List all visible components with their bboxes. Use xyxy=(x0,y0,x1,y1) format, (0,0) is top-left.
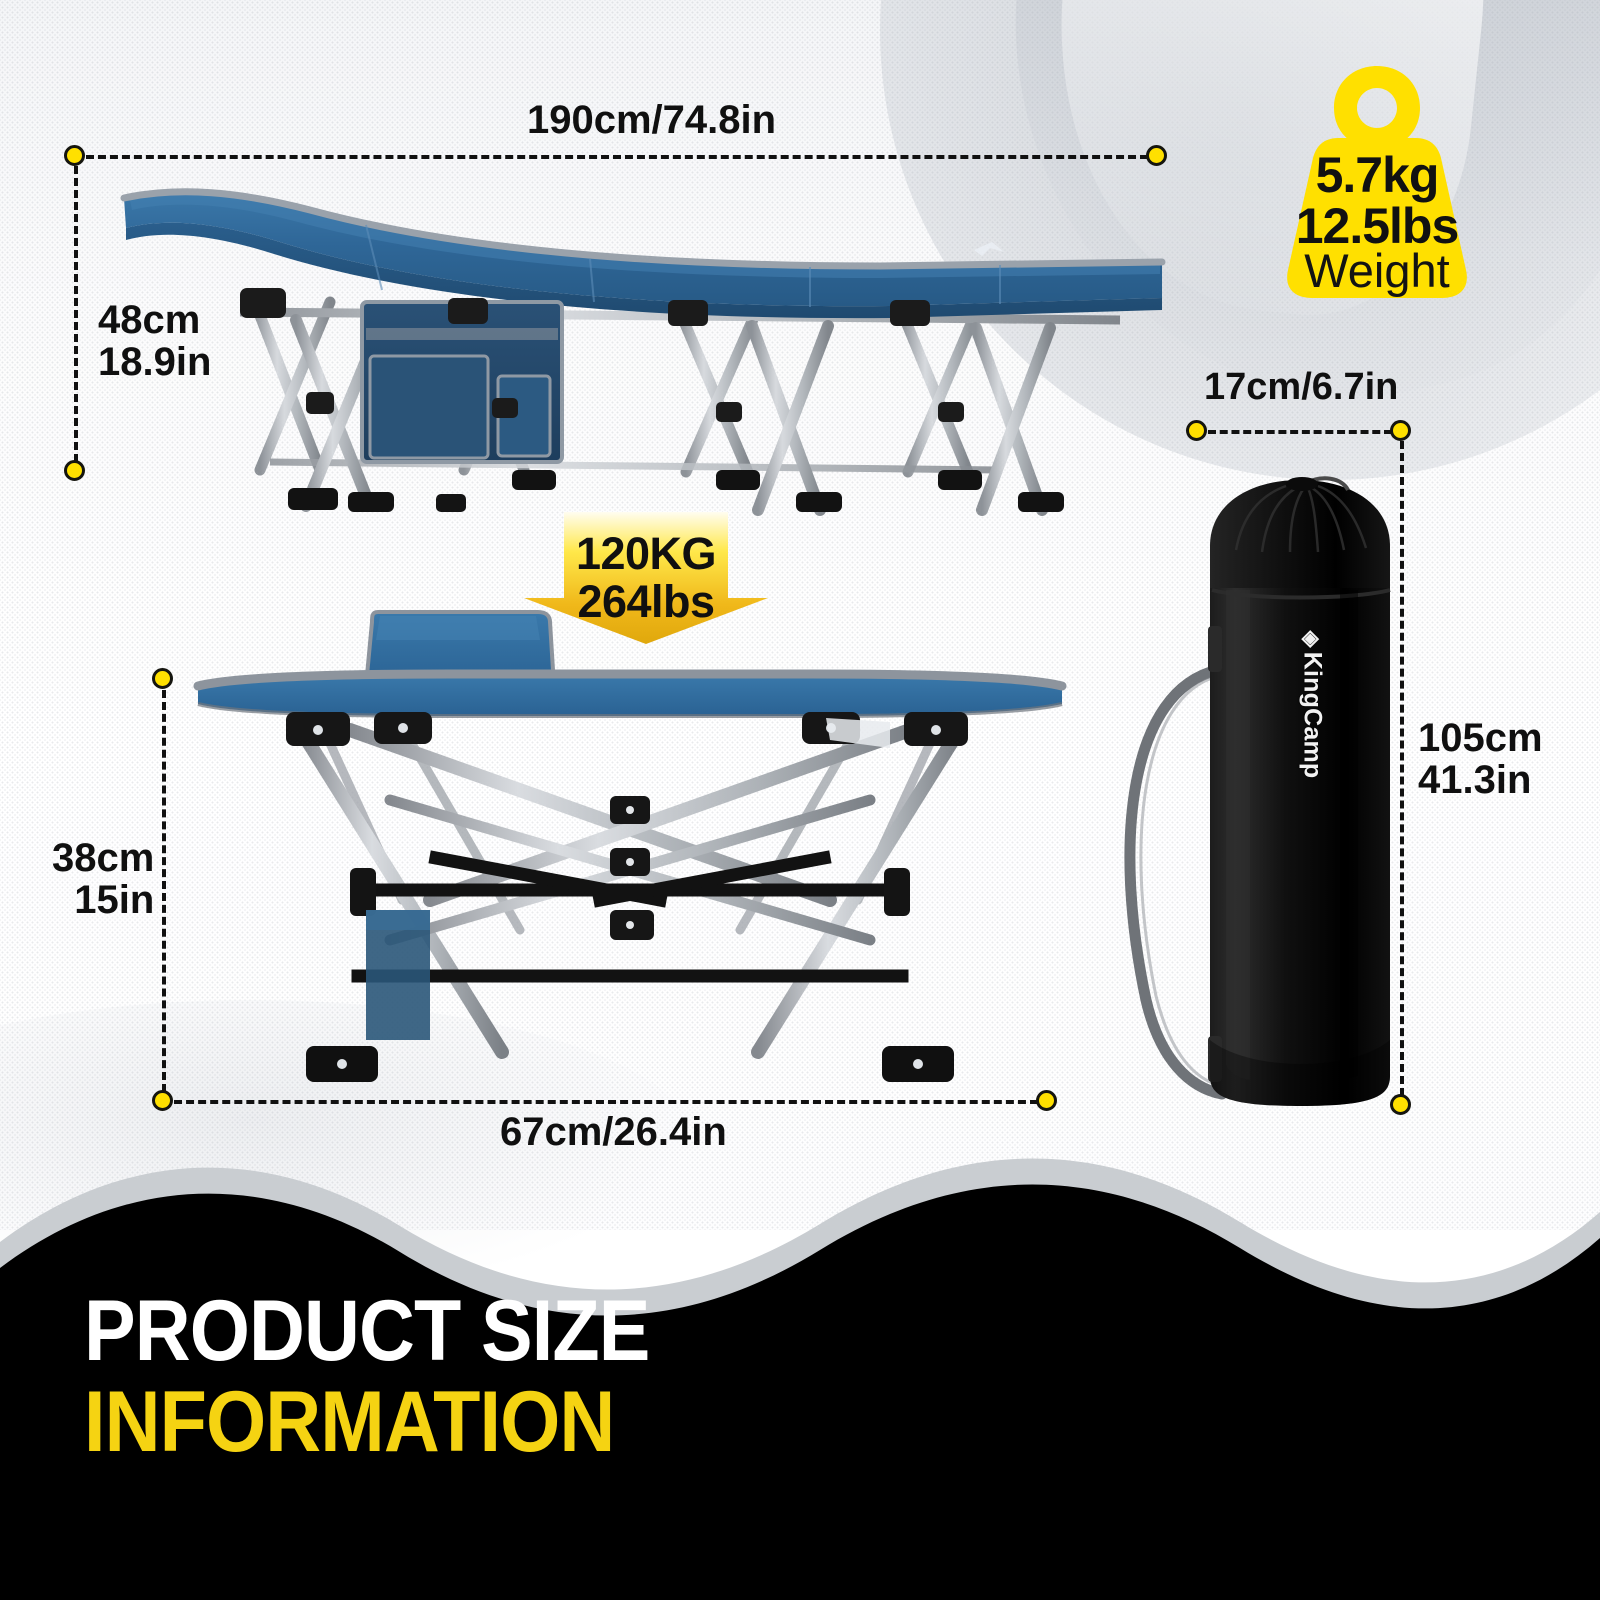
dim-label-cot-height: 48cm 18.9in xyxy=(98,300,211,383)
dim-line-bag-width xyxy=(1208,430,1392,434)
weight-caption: Weight xyxy=(1262,243,1492,298)
dim-line-cot-width xyxy=(174,1100,1038,1104)
dim-label-cot-length: 190cm/74.8in xyxy=(527,100,776,142)
dim-dot-cot-width-right xyxy=(1036,1090,1057,1111)
dim-dot-cot-height-bottom xyxy=(64,460,85,481)
infographic-canvas: ◈KingCamp 190cm/74.8in 48cm 18.9in 38cm … xyxy=(0,0,1600,1600)
dim-dot-bag-length-bottom xyxy=(1390,1094,1411,1115)
wave-divider xyxy=(0,1150,1600,1600)
capacity-badge: 120KG 264lbs xyxy=(524,512,768,644)
dim-line-cot-length xyxy=(86,155,1148,159)
dim-label-bag-width: 17cm/6.7in xyxy=(1204,368,1398,408)
dim-dot-cot-length-left xyxy=(64,145,85,166)
dim-dot-bag-width-left xyxy=(1186,420,1207,441)
dim-dot-cot-seat-bottom xyxy=(152,1090,173,1111)
weight-badge-values: 5.7kg 12.5lbs xyxy=(1262,150,1492,252)
dim-label-bag-length: 105cm 41.3in xyxy=(1418,718,1543,801)
dim-dot-bag-width-right xyxy=(1390,420,1411,441)
bag-brand-label: KingCamp xyxy=(1298,652,1326,779)
dim-dot-cot-seat-top xyxy=(152,668,173,689)
capacity-badge-values: 120KG 264lbs xyxy=(524,530,768,625)
cot-end-view xyxy=(190,600,1070,1100)
dim-dot-cot-length-right xyxy=(1146,145,1167,166)
bag-brand-logo: ◈KingCamp xyxy=(1297,631,1326,779)
carry-bag xyxy=(1090,440,1430,1130)
dim-line-bag-length xyxy=(1400,441,1404,1096)
dim-line-cot-seat-height xyxy=(162,690,166,1092)
dim-label-cot-seat-height: 38cm 15in xyxy=(52,838,154,921)
cot-side-view xyxy=(120,170,1180,490)
dim-line-cot-height xyxy=(74,166,78,462)
dim-label-cot-width: 67cm/26.4in xyxy=(500,1112,727,1154)
kingcamp-diamond-icon: ◈ xyxy=(1298,631,1324,648)
